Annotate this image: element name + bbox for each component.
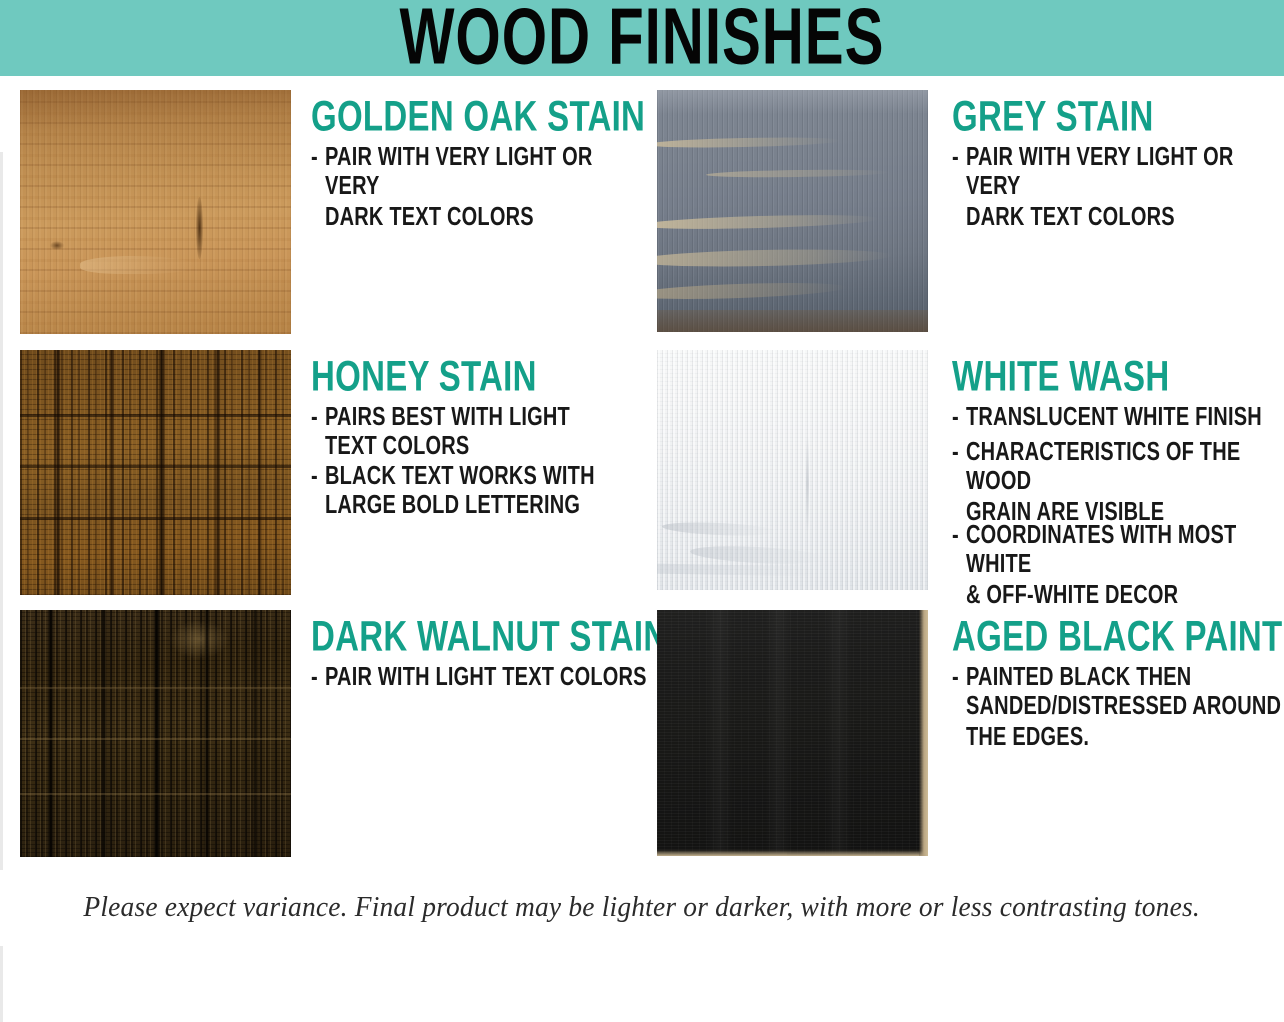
wood-texture — [20, 350, 291, 595]
finish-bullet: COORDINATES WITH MOST WHITE & OFF-WHITE … — [952, 521, 1284, 611]
grain-streak — [662, 520, 776, 537]
wood-texture — [657, 350, 928, 590]
grain-streak — [109, 350, 114, 595]
finish-title: DARK WALNUT STAIN — [311, 614, 667, 657]
finish-card-grey-stain[interactable]: GREY STAIN PAIR WITH VERY LIGHT OR VERY … — [642, 90, 1284, 336]
grain-highlight — [169, 620, 229, 660]
finish-info: AGED BLACK PAINT PAINTED BLACK THEN SAND… — [928, 610, 1284, 745]
grain-line — [20, 414, 291, 417]
finish-bullet: PAIRS BEST WITH LIGHT TEXT COLORS — [311, 403, 642, 463]
grain-streak — [657, 247, 893, 268]
grain-streak — [706, 169, 890, 179]
grain-line — [806, 436, 809, 532]
finish-bullets: PAIR WITH VERY LIGHT OR VERY DARK TEXT C… — [952, 143, 1284, 213]
disclaimer-text: Please expect variance. Final product ma… — [84, 892, 1201, 924]
finish-info: DARK WALNUT STAIN PAIR WITH LIGHT TEXT C… — [291, 610, 667, 698]
finish-card-aged-black-paint[interactable]: AGED BLACK PAINT PAINTED BLACK THEN SAND… — [642, 610, 1284, 858]
grain-line — [20, 793, 291, 795]
finish-bullet: PAINTED BLACK THEN SANDED/DISTRESSED ARO… — [952, 663, 1284, 753]
aged-black-paint-swatch[interactable] — [657, 610, 928, 856]
white-wash-swatch[interactable] — [657, 350, 928, 590]
grain-band — [20, 90, 291, 173]
grain-streak — [253, 610, 258, 857]
page-header: WOOD FINISHES — [0, 0, 1284, 76]
finish-row-1: GOLDEN OAK STAIN PAIR WITH VERY LIGHT OR… — [0, 90, 1284, 336]
finish-bullets: PAIR WITH LIGHT TEXT COLORS — [311, 663, 667, 686]
finish-card-dark-walnut-stain[interactable]: DARK WALNUT STAIN PAIR WITH LIGHT TEXT C… — [0, 610, 642, 858]
finish-bullet: TRANSLUCENT WHITE FINISH — [952, 403, 1284, 433]
finish-card-golden-oak-stain[interactable]: GOLDEN OAK STAIN PAIR WITH VERY LIGHT OR… — [0, 90, 642, 336]
finish-info: HONEY STAIN PAIRS BEST WITH LIGHT TEXT C… — [291, 350, 642, 521]
finish-card-white-wash[interactable]: WHITE WASH TRANSLUCENT WHITE FINISH CHAR… — [642, 350, 1284, 596]
grain-streak — [657, 136, 841, 149]
grain-streak — [657, 280, 847, 302]
finish-bullets: TRANSLUCENT WHITE FINISH CHARACTERISTICS… — [952, 403, 1284, 591]
page-title: WOOD FINISHES — [400, 0, 885, 78]
finish-bullets: PAINTED BLACK THEN SANDED/DISTRESSED ARO… — [952, 663, 1284, 733]
golden-oak-stain-swatch[interactable] — [20, 90, 291, 334]
finish-card-honey-stain[interactable]: HONEY STAIN PAIRS BEST WITH LIGHT TEXT C… — [0, 350, 642, 596]
grain-streak — [657, 564, 928, 579]
finish-info: WHITE WASH TRANSLUCENT WHITE FINISH CHAR… — [928, 350, 1284, 603]
grain-streak — [80, 256, 197, 274]
finish-bullet: PAIR WITH VERY LIGHT OR VERY DARK TEXT C… — [952, 143, 1284, 233]
grain-streak — [689, 543, 825, 566]
grain-streak — [204, 610, 210, 857]
finish-bullet: BLACK TEXT WORKS WITH LARGE BOLD LETTERI… — [311, 462, 642, 522]
finish-row-3: DARK WALNUT STAIN PAIR WITH LIGHT TEXT C… — [0, 610, 1284, 858]
finish-title: AGED BLACK PAINT — [952, 614, 1284, 657]
grey-stain-swatch[interactable] — [657, 90, 928, 332]
grain-streak — [215, 350, 221, 595]
brush-streak — [825, 610, 852, 856]
grain-edge-shadow — [657, 310, 928, 332]
wood-knot-icon — [196, 197, 203, 259]
finish-title: WHITE WASH — [952, 354, 1284, 397]
dark-walnut-stain-swatch[interactable] — [20, 610, 291, 857]
distressed-edge — [657, 848, 928, 856]
finish-info: GREY STAIN PAIR WITH VERY LIGHT OR VERY … — [928, 90, 1284, 225]
finish-bullet: PAIR WITH LIGHT TEXT COLORS — [311, 663, 667, 693]
grain-highlight — [657, 90, 928, 114]
brush-streak — [765, 610, 792, 856]
grain-streak — [158, 350, 165, 595]
grain-line — [20, 687, 291, 689]
finish-bullets: PAIRS BEST WITH LIGHT TEXT COLORS BLACK … — [311, 403, 642, 509]
finish-bullets: PAIR WITH VERY LIGHT OR VERY DARK TEXT C… — [311, 143, 645, 213]
finish-info: GOLDEN OAK STAIN PAIR WITH VERY LIGHT OR… — [291, 90, 645, 225]
finish-bullet: CHARACTERISTICS OF THE WOOD GRAIN ARE VI… — [952, 438, 1284, 528]
grain-line — [20, 465, 291, 468]
wood-texture — [20, 610, 291, 857]
grain-streak — [258, 350, 262, 595]
finishes-sheet: GOLDEN OAK STAIN PAIR WITH VERY LIGHT OR… — [0, 76, 1284, 946]
grain-streak — [153, 610, 161, 857]
honey-stain-swatch[interactable] — [20, 350, 291, 595]
wood-texture — [20, 90, 291, 334]
wood-knot-icon — [50, 241, 64, 250]
grain-line — [20, 738, 291, 740]
finish-title: GOLDEN OAK STAIN — [311, 94, 645, 137]
footer: Please expect variance. Final product ma… — [0, 870, 1284, 946]
brush-streak — [706, 610, 733, 856]
grain-streak — [657, 213, 879, 232]
finish-bullet: PAIR WITH VERY LIGHT OR VERY DARK TEXT C… — [311, 143, 645, 233]
grain-streak — [101, 610, 107, 857]
grain-streak — [55, 350, 61, 595]
wood-texture — [657, 90, 928, 332]
wood-texture — [657, 610, 928, 856]
grain-streak — [47, 610, 54, 857]
distressed-edge — [919, 610, 928, 856]
finish-title: GREY STAIN — [952, 94, 1284, 137]
grain-line — [20, 517, 291, 520]
finish-title: HONEY STAIN — [311, 354, 642, 397]
finish-row-2: HONEY STAIN PAIRS BEST WITH LIGHT TEXT C… — [0, 350, 1284, 596]
